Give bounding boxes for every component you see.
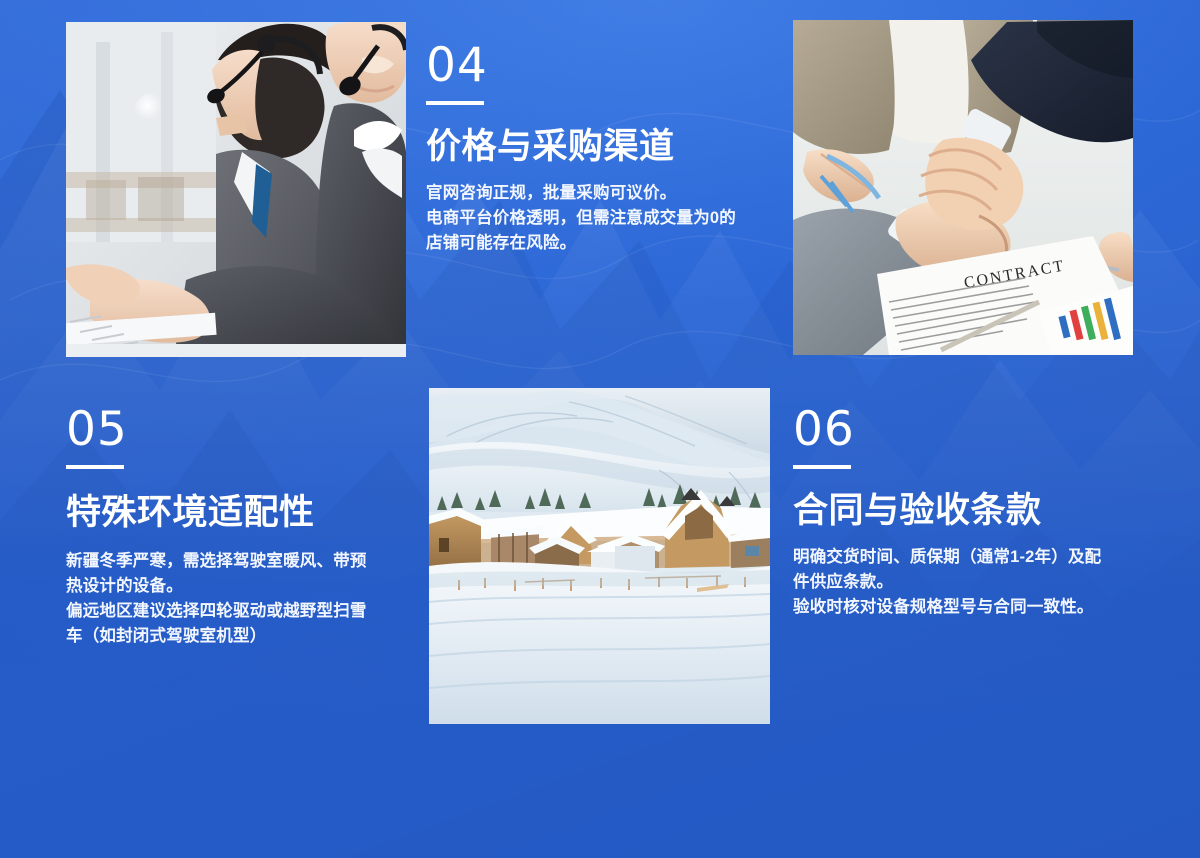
handshake-contract-photo: CONTRACT [793,20,1133,355]
body-line: 验收时核对设备规格型号与合同一致性。 [793,595,1133,620]
body-line: 明确交货时间、质保期（通常1-2年）及配 [793,545,1133,570]
block-title-05: 特殊环境适配性 [66,493,421,533]
poster-canvas: CONTRACT [0,0,1200,858]
block-number-06: 06 [793,404,1143,456]
block-rule-05 [66,465,124,469]
body-line: 新疆冬季严寒，需选择驾驶室暖风、带预 [66,549,418,574]
block-title-04: 价格与采购渠道 [426,127,776,167]
block-number-05: 05 [66,404,421,456]
call-center-agents-photo [66,22,406,357]
block-rule-04 [426,101,484,105]
body-line: 车（如封闭式驾驶室机型） [66,624,418,649]
block-title-06: 合同与验收条款 [793,491,1143,531]
block-rule-06 [793,465,851,469]
block-body-06: 明确交货时间、质保期（通常1-2年）及配 件供应条款。 验收时核对设备规格型号与… [793,545,1133,620]
body-line: 偏远地区建议选择四轮驱动或越野型扫雪 [66,599,418,624]
content-block-04: 04 价格与采购渠道 官网咨询正规，批量采购可议价。 电商平台价格透明，但需注意… [426,40,776,256]
body-line: 店铺可能存在风险。 [426,231,771,256]
body-line: 热设计的设备。 [66,574,418,599]
content-block-05: 05 特殊环境适配性 新疆冬季严寒，需选择驾驶室暖风、带预 热设计的设备。 偏远… [66,404,421,649]
body-line: 官网咨询正规，批量采购可议价。 [426,181,771,206]
body-line: 电商平台价格透明，但需注意成交量为0的 [426,206,771,231]
content-block-06: 06 合同与验收条款 明确交货时间、质保期（通常1-2年）及配 件供应条款。 验… [793,404,1143,620]
block-body-05: 新疆冬季严寒，需选择驾驶室暖风、带预 热设计的设备。 偏远地区建议选择四轮驱动或… [66,549,418,649]
block-number-04: 04 [426,40,776,92]
body-line: 件供应条款。 [793,570,1133,595]
snow-village-photo [429,388,770,724]
block-body-04: 官网咨询正规，批量采购可议价。 电商平台价格透明，但需注意成交量为0的 店铺可能… [426,181,771,256]
